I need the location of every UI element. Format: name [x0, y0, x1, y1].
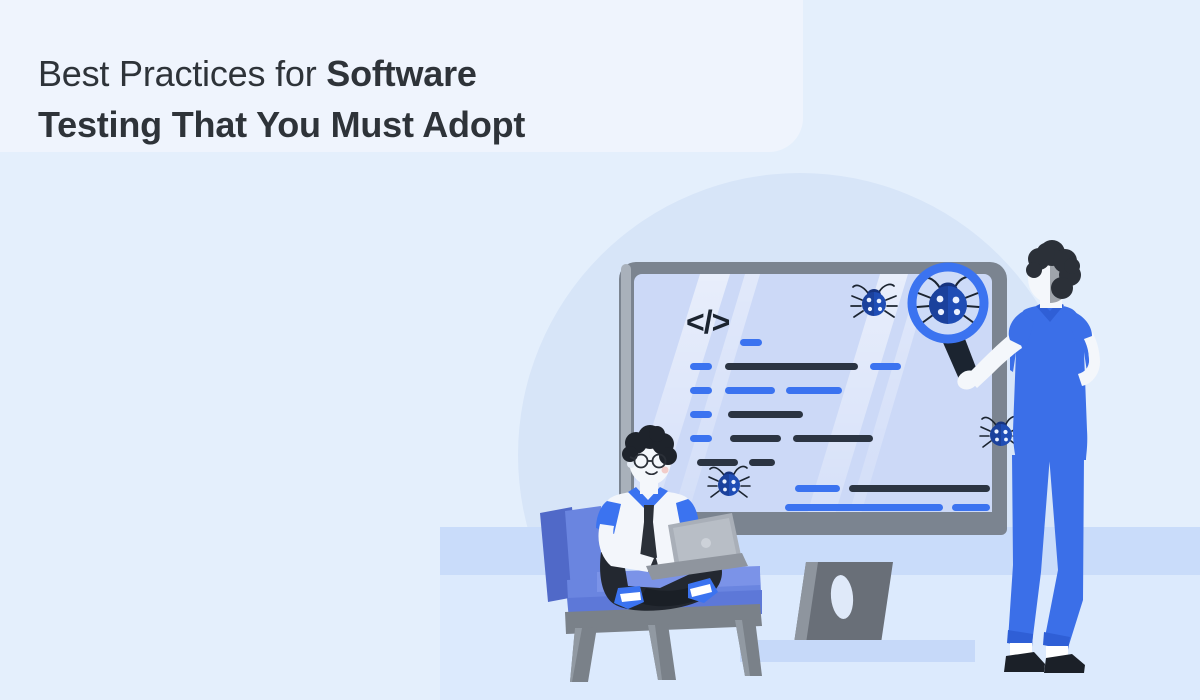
code-line-1-body: [725, 363, 858, 370]
code-line-2-key: [690, 387, 712, 394]
laptop-logo: [701, 538, 711, 548]
monitor-stand: [793, 562, 893, 650]
code-line-3-body: [728, 411, 803, 418]
code-line-cursor: [740, 339, 762, 346]
monitor-bezel-highlight: [621, 264, 631, 530]
page-title-line2: Testing That You Must Adopt: [38, 104, 525, 145]
code-line-4-key: [690, 435, 712, 442]
banner-root: </>: [0, 0, 1200, 700]
code-line-2-body: [725, 387, 775, 394]
code-line-5-b: [749, 459, 775, 466]
code-line-4-tail: [793, 435, 873, 442]
header-card: Best Practices for SoftwareTesting That …: [0, 0, 803, 152]
code-line-1-key: [690, 363, 712, 370]
page-title-lead: Best Practices for: [38, 53, 326, 94]
code-line-2-tail: [786, 387, 842, 394]
code-line-3-key: [690, 411, 712, 418]
code-line-5-a: [697, 459, 738, 466]
code-symbol: </>: [686, 304, 730, 340]
code-line-6-body: [849, 485, 990, 492]
code-line-7-tail: [952, 504, 990, 511]
code-line-1-tail: [870, 363, 901, 370]
page-title-accent: Software: [326, 53, 476, 94]
page-title: Best Practices for SoftwareTesting That …: [38, 48, 738, 150]
code-line-4-body: [730, 435, 781, 442]
code-line-6-key: [795, 485, 840, 492]
code-line-7-body: [785, 504, 943, 511]
monitor-stand-shadow: [740, 640, 975, 662]
